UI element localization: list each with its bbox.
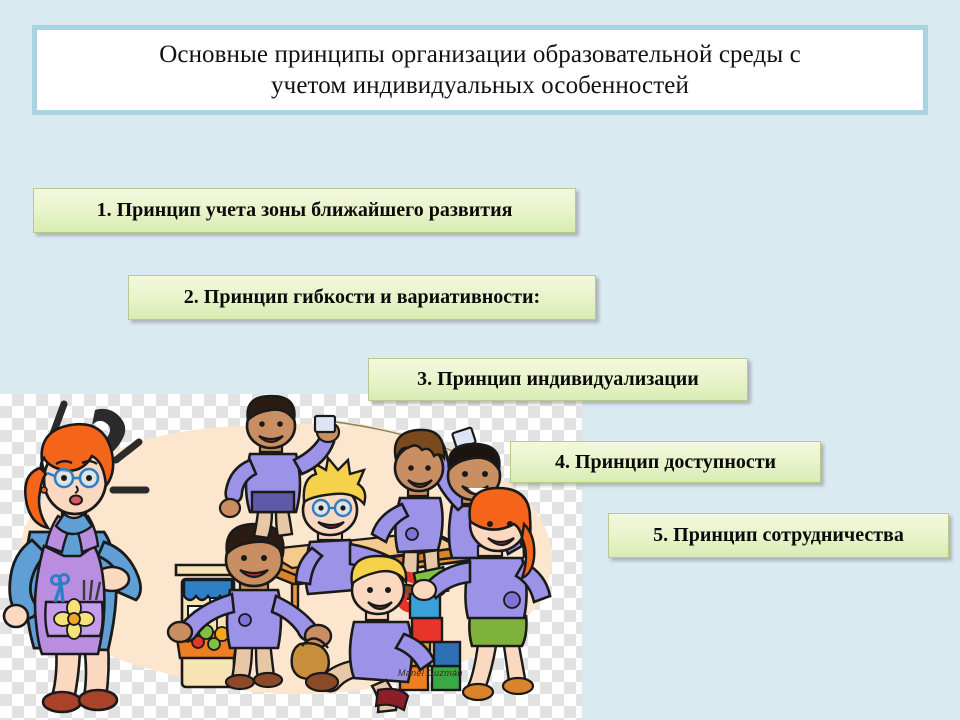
title-line-2: учетом индивидуальных особенностей <box>271 72 689 99</box>
principle-box-1[interactable]: 1. Принцип учета зоны ближайшего развити… <box>33 188 576 233</box>
illustration-children-playing: 2 3 <box>0 394 582 720</box>
principle-label-5: 5. Принцип сотрудничества <box>653 524 904 547</box>
title-line-1: Основные принципы организации образовате… <box>159 41 801 68</box>
artist-signature: Manel Guzmán <box>398 668 463 678</box>
principle-box-4[interactable]: 4. Принцип доступности <box>510 441 821 483</box>
principle-label-1: 1. Принцип учета зоны ближайшего развити… <box>97 199 513 222</box>
principle-box-3[interactable]: 3. Принцип индивидуализации <box>368 358 748 401</box>
slide-title-box: Основные принципы организации образовате… <box>32 25 928 115</box>
principle-box-2[interactable]: 2. Принцип гибкости и вариативности: <box>128 275 596 320</box>
slide-canvas: Основные принципы организации образовате… <box>0 0 960 720</box>
illustration-artwork: 2 3 <box>0 394 582 720</box>
principle-label-4: 4. Принцип доступности <box>555 451 776 474</box>
principle-label-2: 2. Принцип гибкости и вариативности: <box>184 286 540 309</box>
principle-box-5[interactable]: 5. Принцип сотрудничества <box>608 513 949 558</box>
principle-label-3: 3. Принцип индивидуализации <box>417 368 699 391</box>
page-title: Основные принципы организации образовате… <box>59 39 901 102</box>
